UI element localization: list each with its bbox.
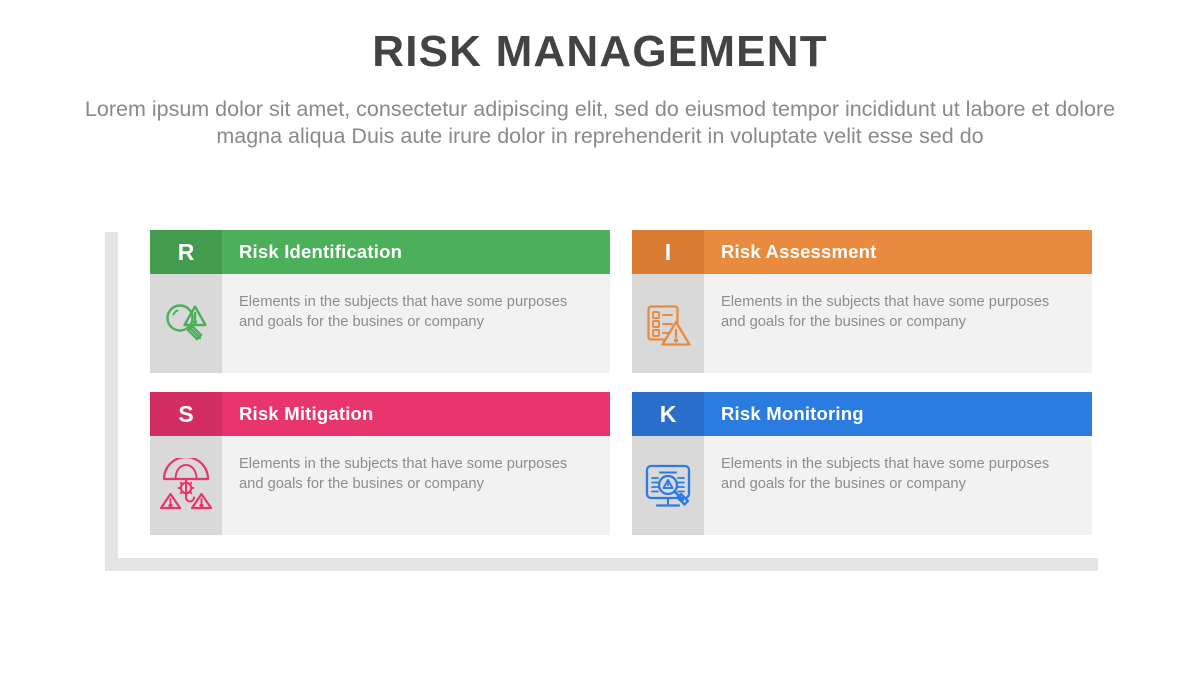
card-letter-badge: R — [150, 230, 222, 274]
card-description: Elements in the subjects that have some … — [704, 436, 1063, 535]
magnifier-warning-icon — [150, 274, 222, 373]
card-header: K Risk Monitoring — [632, 392, 1092, 436]
page-title: RISK MANAGEMENT — [0, 27, 1200, 77]
slide-root: RISK MANAGEMENT Lorem ipsum dolor sit am… — [0, 0, 1200, 675]
card-body: Elements in the subjects that have some … — [150, 436, 610, 535]
card-header: S Risk Mitigation — [150, 392, 610, 436]
card-letter-badge: K — [632, 392, 704, 436]
card-risk-monitoring[interactable]: K Risk Monitoring — [632, 392, 1092, 535]
umbrella-gear-warning-icon — [150, 436, 222, 535]
monitor-warning-magnifier-icon — [632, 436, 704, 535]
cards-grid: R Risk Identification Elements in the s — [150, 230, 1090, 535]
card-risk-mitigation[interactable]: S Risk Mitigation — [150, 392, 610, 535]
backdrop-frame-bottom — [105, 558, 1098, 571]
backdrop-frame-left — [105, 232, 118, 571]
card-body: Elements in the subjects that have some … — [632, 436, 1092, 535]
card-description: Elements in the subjects that have some … — [222, 274, 581, 373]
card-body: Elements in the subjects that have some … — [632, 274, 1092, 373]
card-title: Risk Identification — [222, 241, 402, 263]
card-description: Elements in the subjects that have some … — [222, 436, 581, 535]
page-subtitle: Lorem ipsum dolor sit amet, consectetur … — [60, 96, 1140, 150]
card-body: Elements in the subjects that have some … — [150, 274, 610, 373]
card-title: Risk Monitoring — [704, 403, 864, 425]
card-risk-assessment[interactable]: I Risk Assessment — [632, 230, 1092, 373]
card-risk-identification[interactable]: R Risk Identification Elements in the s — [150, 230, 610, 373]
card-title: Risk Assessment — [704, 241, 877, 263]
card-letter-badge: S — [150, 392, 222, 436]
card-header: R Risk Identification — [150, 230, 610, 274]
checklist-warning-icon — [632, 274, 704, 373]
card-description: Elements in the subjects that have some … — [704, 274, 1063, 373]
card-letter-badge: I — [632, 230, 704, 274]
card-header: I Risk Assessment — [632, 230, 1092, 274]
card-title: Risk Mitigation — [222, 403, 374, 425]
